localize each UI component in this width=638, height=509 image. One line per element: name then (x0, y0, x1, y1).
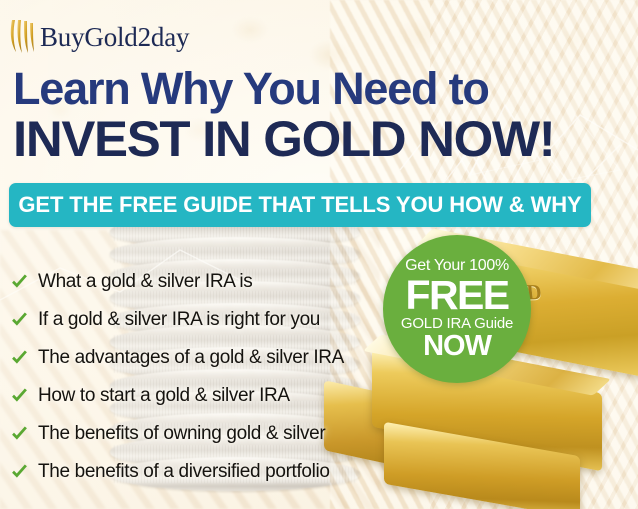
check-icon (10, 387, 29, 406)
list-item: What a gold & silver IRA is (10, 263, 400, 301)
gold-ira-ad-banner: FINE GOLD 999.9 BuyGold2day Learn Why Yo… (0, 0, 638, 509)
brand-logo-text: BuyGold2day (40, 22, 189, 53)
check-icon (10, 425, 29, 444)
gold-fan-icon (9, 18, 37, 56)
headline-line-1: Learn Why You Need to (13, 66, 544, 112)
list-item-label: If a gold & silver IRA is right for you (38, 309, 320, 331)
badge-line-free: FREE (406, 276, 509, 315)
check-icon (10, 311, 29, 330)
list-item-label: What a gold & silver IRA is (38, 271, 252, 293)
list-item: The advantages of a gold & silver IRA (10, 339, 400, 377)
benefits-list: What a gold & silver IRA is If a gold & … (10, 263, 400, 491)
check-icon (10, 349, 29, 368)
list-item-label: How to start a gold & silver IRA (38, 385, 290, 407)
list-item: The benefits of a diversified portfolio (10, 453, 400, 491)
check-icon (10, 273, 29, 292)
check-icon (10, 463, 29, 482)
headline-line-2: INVEST IN GOLD NOW! (13, 114, 554, 165)
list-item-label: The benefits of owning gold & silver (38, 423, 325, 445)
free-guide-badge[interactable]: Get Your 100% FREE GOLD IRA Guide NOW (383, 235, 531, 383)
list-item-label: The benefits of a diversified portfolio (38, 461, 330, 483)
cta-banner-bar[interactable]: GET THE FREE GUIDE THAT TELLS YOU HOW & … (9, 183, 591, 227)
list-item-label: The advantages of a gold & silver IRA (38, 347, 344, 369)
brand-logo[interactable]: BuyGold2day (9, 18, 189, 56)
headline: Learn Why You Need to INVEST IN GOLD NOW… (13, 66, 544, 165)
list-item: If a gold & silver IRA is right for you (10, 301, 400, 339)
cta-banner-text: GET THE FREE GUIDE THAT TELLS YOU HOW & … (18, 192, 581, 218)
list-item: The benefits of owning gold & silver (10, 415, 400, 453)
badge-line-now: NOW (423, 332, 491, 361)
list-item: How to start a gold & silver IRA (10, 377, 400, 415)
